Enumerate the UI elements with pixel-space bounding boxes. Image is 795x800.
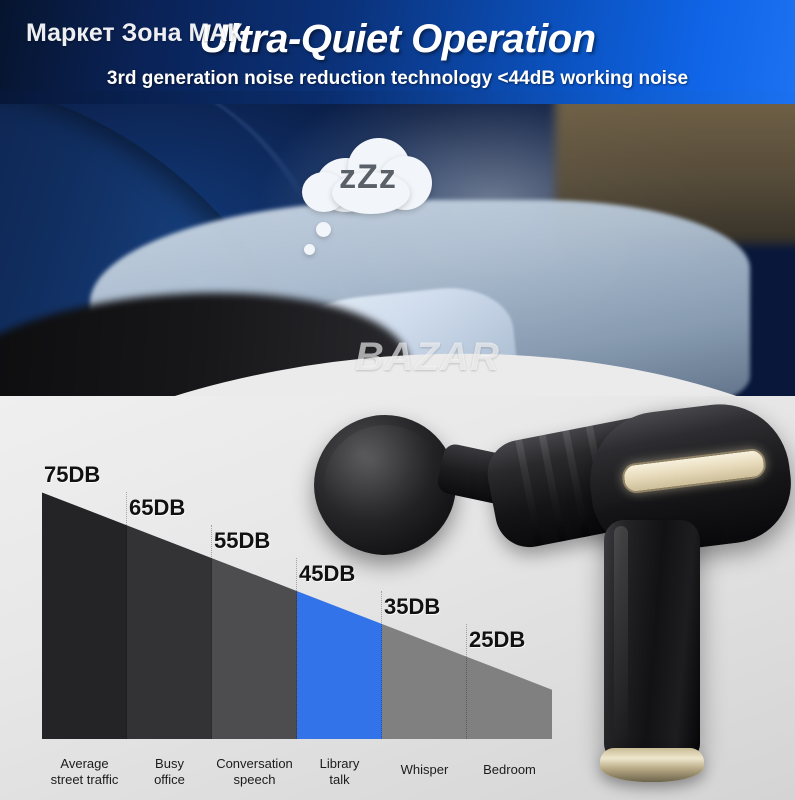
chart-value-label: 45DB bbox=[299, 561, 355, 587]
chart-bar bbox=[297, 591, 382, 739]
chart-bar bbox=[42, 492, 127, 739]
chart-plot-area bbox=[42, 476, 552, 739]
chart-bar-fill bbox=[212, 558, 297, 739]
chart-bar-fill bbox=[382, 624, 467, 739]
chart-bar-fill bbox=[42, 492, 127, 739]
chart-bar bbox=[127, 525, 212, 739]
sleep-cloud-icon: zZz bbox=[302, 136, 434, 214]
page-subtitle: 3rd generation noise reduction technolog… bbox=[0, 68, 795, 90]
chart-x-axis: Averagestreet trafficBusyofficeConversat… bbox=[0, 750, 795, 800]
product-infographic-page: Маркет Зона МАК Ultra-Quiet Operation 3r… bbox=[0, 0, 795, 800]
chart-value-label: 35DB bbox=[384, 594, 440, 620]
chart-value-label: 75DB bbox=[44, 462, 100, 488]
chart-value-label: 55DB bbox=[214, 528, 270, 554]
chart-bar bbox=[212, 558, 297, 739]
cloud-bubble-small bbox=[304, 244, 315, 255]
chart-bar-fill bbox=[127, 525, 212, 739]
header-banner: Маркет Зона МАК Ultra-Quiet Operation 3r… bbox=[0, 0, 795, 105]
chart-x-label: Bedroom bbox=[457, 762, 562, 778]
chart-value-label: 65DB bbox=[129, 495, 185, 521]
sleep-bubble-text: zZz bbox=[302, 158, 434, 197]
cloud-bubble-small bbox=[316, 222, 331, 237]
chart-bar bbox=[382, 624, 467, 739]
chart-value-label: 25DB bbox=[469, 627, 525, 653]
chart-bar bbox=[467, 657, 552, 739]
market-watermark: Маркет Зона МАК bbox=[26, 19, 243, 48]
bazar-watermark: BAZAR bbox=[355, 335, 500, 380]
chart-bar-fill bbox=[467, 657, 552, 739]
chart-bar-fill bbox=[297, 591, 382, 739]
